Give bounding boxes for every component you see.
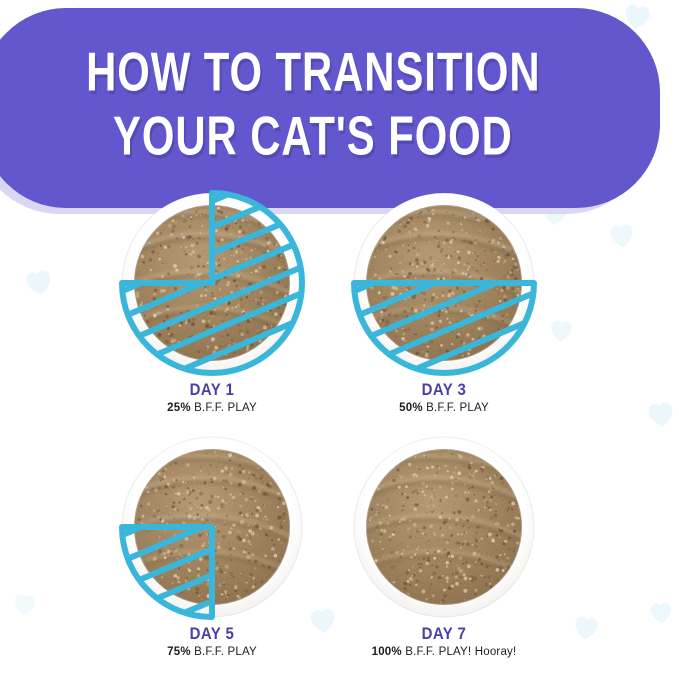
step-caption: DAY 125% B.F.F. PLAY: [112, 380, 312, 414]
mix-percent: 100%: [372, 646, 402, 658]
step-caption: DAY 350% B.F.F. PLAY: [344, 380, 544, 414]
heart-icon: [644, 398, 678, 432]
bowl-2: [349, 188, 539, 378]
mix-ratio-label: 50% B.F.F. PLAY: [344, 402, 544, 414]
mix-product-name: B.F.F. PLAY: [191, 646, 257, 658]
mix-percent: 25%: [167, 402, 191, 414]
heart-icon: [547, 317, 576, 346]
transition-step-4: DAY 7100% B.F.F. PLAY! Hooray!: [344, 432, 544, 658]
mix-ratio-label: 25% B.F.F. PLAY: [112, 402, 312, 414]
heart-icon: [607, 221, 638, 252]
day-label: DAY 7: [356, 624, 532, 644]
mix-product-name: B.F.F. PLAY: [191, 402, 257, 414]
transition-step-2: DAY 350% B.F.F. PLAY: [344, 188, 544, 414]
title-line-1: HOW TO TRANSITION: [86, 43, 540, 102]
step-caption: DAY 7100% B.F.F. PLAY! Hooray!: [344, 624, 544, 658]
mix-percent: 75%: [167, 646, 191, 658]
food-bowl-graphic: [349, 432, 539, 622]
infographic-canvas: HOW TO TRANSITION YOUR CAT'S FOOD: [0, 0, 679, 674]
food-bowl-graphic: [117, 432, 307, 622]
transition-step-3: DAY 575% B.F.F. PLAY: [112, 432, 312, 658]
mix-percent: 50%: [399, 402, 423, 414]
step-caption: DAY 575% B.F.F. PLAY: [112, 624, 312, 658]
heart-icon: [647, 599, 675, 627]
heart-icon: [11, 591, 40, 620]
transition-step-1: DAY 125% B.F.F. PLAY: [112, 188, 312, 414]
heart-icon: [22, 266, 57, 301]
mix-product-name: B.F.F. PLAY! Hooray!: [402, 646, 517, 658]
mix-ratio-label: 100% B.F.F. PLAY! Hooray!: [344, 646, 544, 658]
day-label: DAY 3: [356, 380, 532, 400]
heart-icon: [570, 612, 602, 644]
mix-product-name: B.F.F. PLAY: [423, 402, 489, 414]
day-label: DAY 1: [124, 380, 300, 400]
day-label: DAY 5: [124, 624, 300, 644]
food-bowl-graphic: [349, 188, 539, 378]
header-banner: HOW TO TRANSITION YOUR CAT'S FOOD: [0, 4, 674, 216]
bowl-4: [349, 432, 539, 622]
page-title: HOW TO TRANSITION YOUR CAT'S FOOD: [0, 4, 652, 204]
mix-ratio-label: 75% B.F.F. PLAY: [112, 646, 312, 658]
bowl-1: [117, 188, 307, 378]
title-line-2: YOUR CAT'S FOOD: [113, 107, 513, 166]
bowl-3: [117, 432, 307, 622]
food-bowl-graphic: [117, 188, 307, 378]
